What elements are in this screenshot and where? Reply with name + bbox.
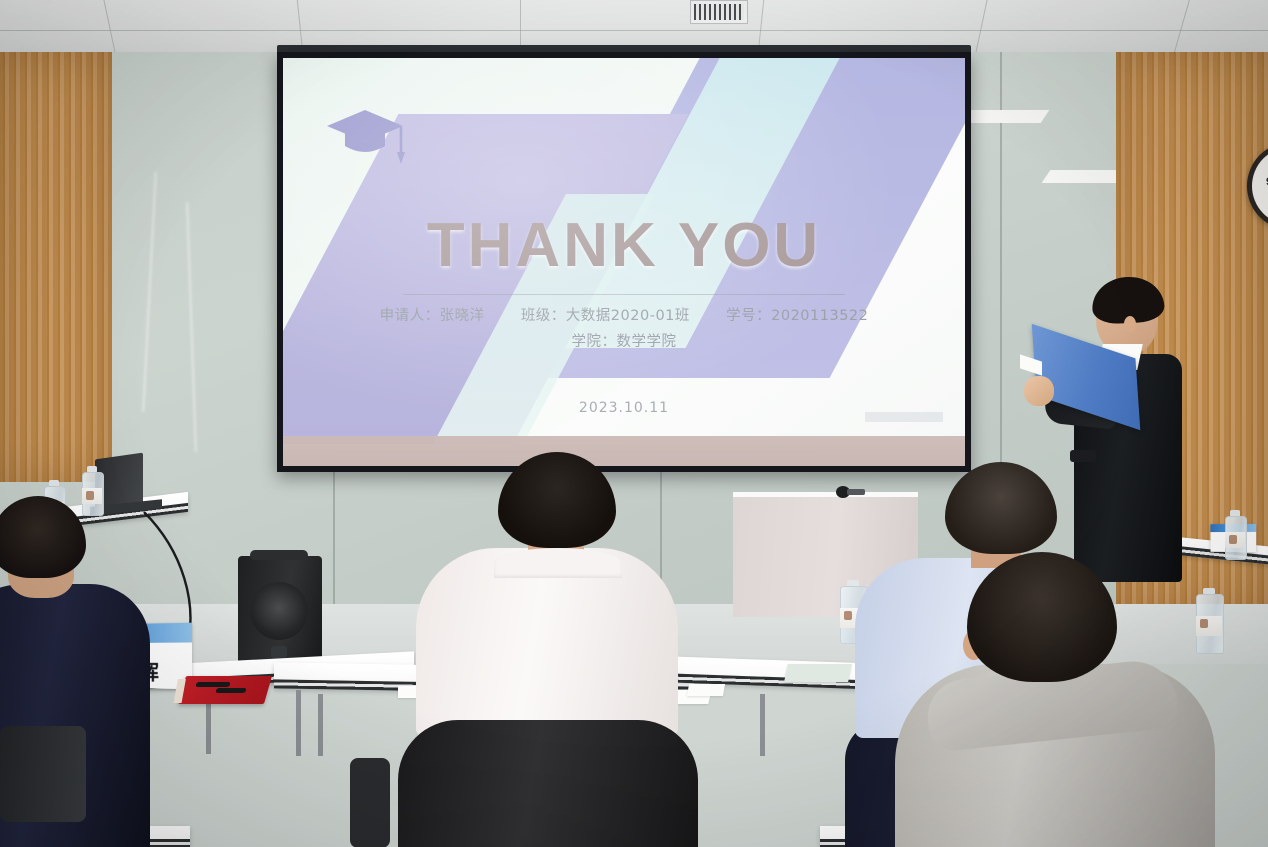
presenter-hand (1024, 376, 1054, 406)
table-leg (296, 690, 301, 756)
wood-slat-panel-left (0, 52, 112, 482)
chair[interactable] (350, 758, 390, 847)
audience-person-white-shirt (398, 452, 684, 847)
pen[interactable] (195, 682, 230, 687)
chair-draped-jacket (398, 720, 698, 847)
slide-meta-line-1: 申请人：张晓洋 班级：大数据2020-01班 学号：2020113522 (283, 304, 965, 325)
applicant-label: 申请人：张晓洋 (380, 304, 485, 325)
chair[interactable] (0, 726, 86, 822)
audience-collar (494, 548, 622, 578)
paper-sheet[interactable] (784, 664, 852, 682)
audience-hair (945, 462, 1057, 554)
projection-screen: THANK YOU 申请人：张晓洋 班级：大数据2020-01班 学号：2020… (277, 52, 971, 472)
audience-hair (967, 552, 1117, 682)
pen[interactable] (215, 688, 246, 693)
presentation-slide: THANK YOU 申请人：张晓洋 班级：大数据2020-01班 学号：2020… (283, 58, 965, 466)
paper-sheet[interactable] (687, 684, 725, 696)
college-label: 学院：数学学院 (283, 330, 965, 351)
air-vent-icon (690, 0, 748, 24)
presenter-ear (1124, 316, 1136, 332)
microphone-icon (836, 486, 864, 498)
table-leg (760, 694, 765, 756)
table-leg (318, 694, 323, 756)
slide-date: 2023.10.11 (283, 400, 965, 416)
graduation-cap-icon (325, 106, 405, 170)
student-id-label: 学号：2020113522 (726, 304, 868, 325)
presentation-room-scene: 10 9 8 THANK YOU 申请人：张晓洋 班级：大数据202 (0, 0, 1268, 847)
slide-corner-watermark (865, 412, 943, 422)
class-label: 班级：大数据2020-01班 (521, 304, 690, 325)
handheld-device (1070, 450, 1096, 462)
committee-hair (0, 496, 86, 578)
slide-title: THANK YOU (283, 210, 965, 281)
water-bottle[interactable] (1225, 510, 1245, 558)
pa-speaker (238, 556, 322, 668)
slide-divider (403, 294, 845, 295)
audience-person-gray-hoodie (905, 552, 1205, 847)
audience-hair (498, 452, 616, 548)
